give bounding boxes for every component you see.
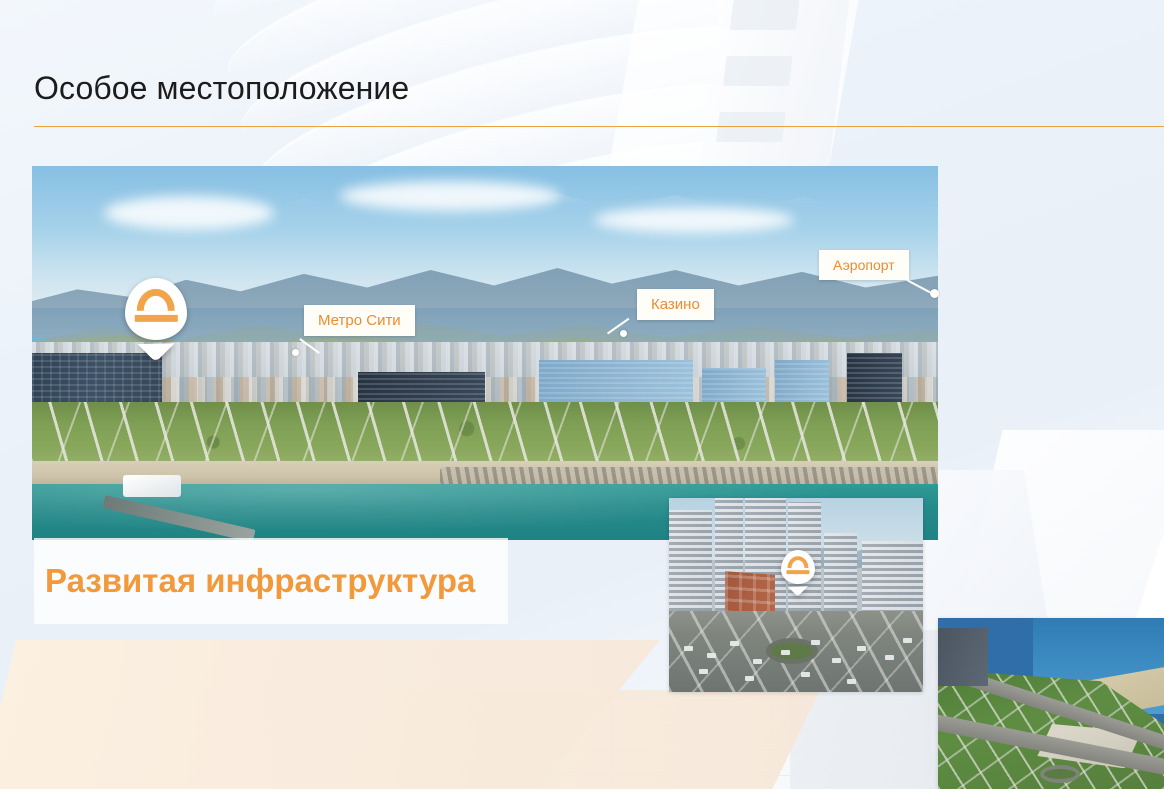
page-title: Особое местоположение <box>34 70 409 107</box>
callout-casino[interactable]: Казино <box>637 289 714 320</box>
leader-dot-casino <box>620 330 627 337</box>
inset3-roundabout <box>1040 765 1080 783</box>
inset-photo-beach-boulevard <box>938 618 1164 789</box>
presentation-slide: Особое местоположение Метро Сити Казино … <box>0 0 1164 789</box>
pin-teardrop-shape <box>125 278 187 340</box>
title-underline-rule <box>34 126 1164 127</box>
callout-airport[interactable]: Аэропорт <box>819 250 909 280</box>
background-beige-diagonal-secondary <box>340 690 820 789</box>
inset2-cars <box>669 611 923 692</box>
pin-teardrop-shape <box>781 550 815 584</box>
leader-dot-airport <box>930 289 939 298</box>
infrastructure-banner-text: Развитая инфраструктура <box>45 562 475 600</box>
brand-arch-logo-icon <box>137 289 175 321</box>
panorama-photo <box>32 166 938 540</box>
map-pin-icon-inset[interactable] <box>781 550 815 584</box>
brand-arch-logo-icon <box>787 556 808 574</box>
callout-metro-city[interactable]: Метро Сити <box>304 305 415 336</box>
photo-pier-building <box>123 475 182 497</box>
leader-dot-metro-city <box>292 349 299 356</box>
photo-green-boulevard <box>32 402 938 469</box>
map-pin-icon[interactable] <box>125 278 187 340</box>
inset2-tower <box>669 510 712 615</box>
inset2-tower <box>824 533 857 614</box>
inset3-buildings <box>938 628 988 686</box>
